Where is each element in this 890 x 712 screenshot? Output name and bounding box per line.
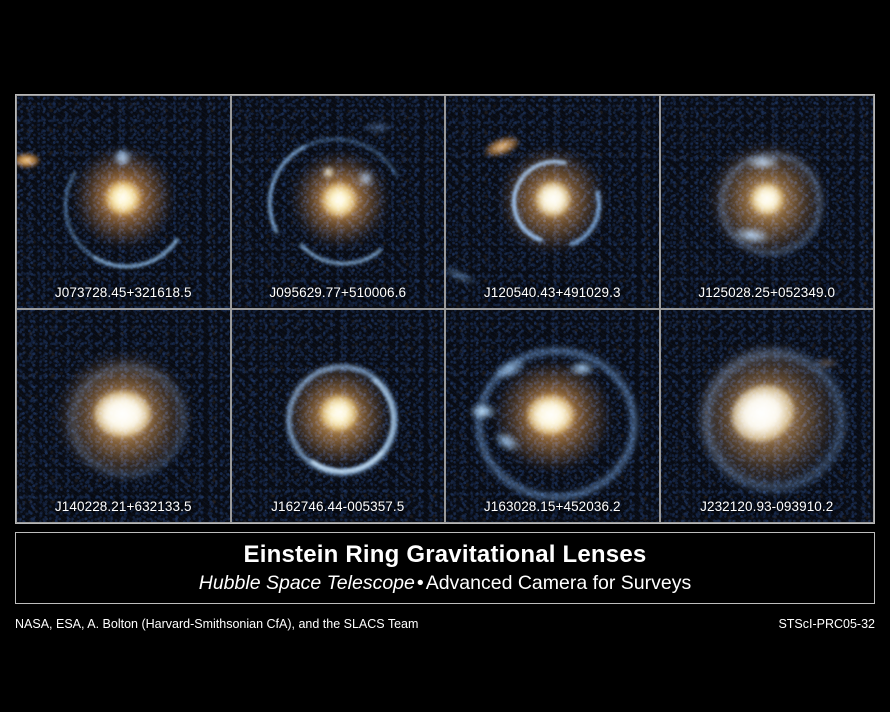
panel-label: J095629.77+510006.6: [232, 285, 445, 300]
lens-galaxy-core: [527, 395, 574, 435]
lens-galaxy-core: [105, 181, 141, 215]
panel-label: J163028.15+452036.2: [446, 499, 659, 514]
einstein-knot-upper: [113, 149, 132, 166]
subtitle-instrument-camera: Advanced Camera for Surveys: [426, 572, 692, 594]
lens-galaxy-core: [321, 183, 357, 217]
galaxy-panel-6[interactable]: J162746.44-005357.5: [232, 310, 445, 522]
galaxy-panel-1[interactable]: J073728.45+321618.5: [17, 96, 230, 308]
galaxy-panel-4[interactable]: J125028.25+052349.0: [661, 96, 874, 308]
lens-galaxy-core: [94, 391, 151, 438]
lens-galaxy-core: [320, 395, 358, 431]
subtitle-instrument-telescope: Hubble Space Telescope: [199, 572, 415, 594]
poster-root: J073728.45+321618.5 J095629.77+510006.6: [0, 0, 890, 712]
credit-text: NASA, ESA, A. Bolton (Harvard-Smithsonia…: [15, 617, 418, 631]
galaxy-panel-2[interactable]: J095629.77+510006.6: [232, 96, 445, 308]
release-id: STScI-PRC05-32: [778, 617, 875, 631]
lens-galaxy-core: [535, 181, 571, 217]
panel-label: J120540.43+491029.3: [446, 285, 659, 300]
galaxy-panel-8[interactable]: J232120.93-093910.2: [661, 310, 874, 522]
panel-label: J073728.45+321618.5: [17, 285, 230, 300]
galaxy-panel-3[interactable]: J120540.43+491029.3: [446, 96, 659, 308]
einstein-knot-right: [355, 170, 376, 187]
title-box: Einstein Ring Gravitational Lenses Hubbl…: [15, 532, 875, 604]
panel-label: J162746.44-005357.5: [232, 499, 445, 514]
panel-label: J140228.21+632133.5: [17, 499, 230, 514]
credit-row: NASA, ESA, A. Bolton (Harvard-Smithsonia…: [15, 617, 875, 631]
panel-label: J125028.25+052349.0: [661, 285, 874, 300]
galaxy-panel-5[interactable]: J140228.21+632133.5: [17, 310, 230, 522]
page-title: Einstein Ring Gravitational Lenses: [244, 541, 647, 569]
lens-galaxy-core: [750, 183, 784, 215]
companion-knot: [321, 166, 336, 179]
einstein-knot-upper-right: [569, 361, 595, 376]
image-grid: J073728.45+321618.5 J095629.77+510006.6: [15, 94, 875, 524]
einstein-knot-upper: [746, 155, 780, 170]
subtitle-separator-icon: •: [415, 572, 426, 594]
page-subtitle: Hubble Space Telescope•Advanced Camera f…: [199, 571, 691, 595]
galaxy-panel-7[interactable]: J163028.15+452036.2: [446, 310, 659, 522]
panel-label: J232120.93-093910.2: [661, 499, 874, 514]
